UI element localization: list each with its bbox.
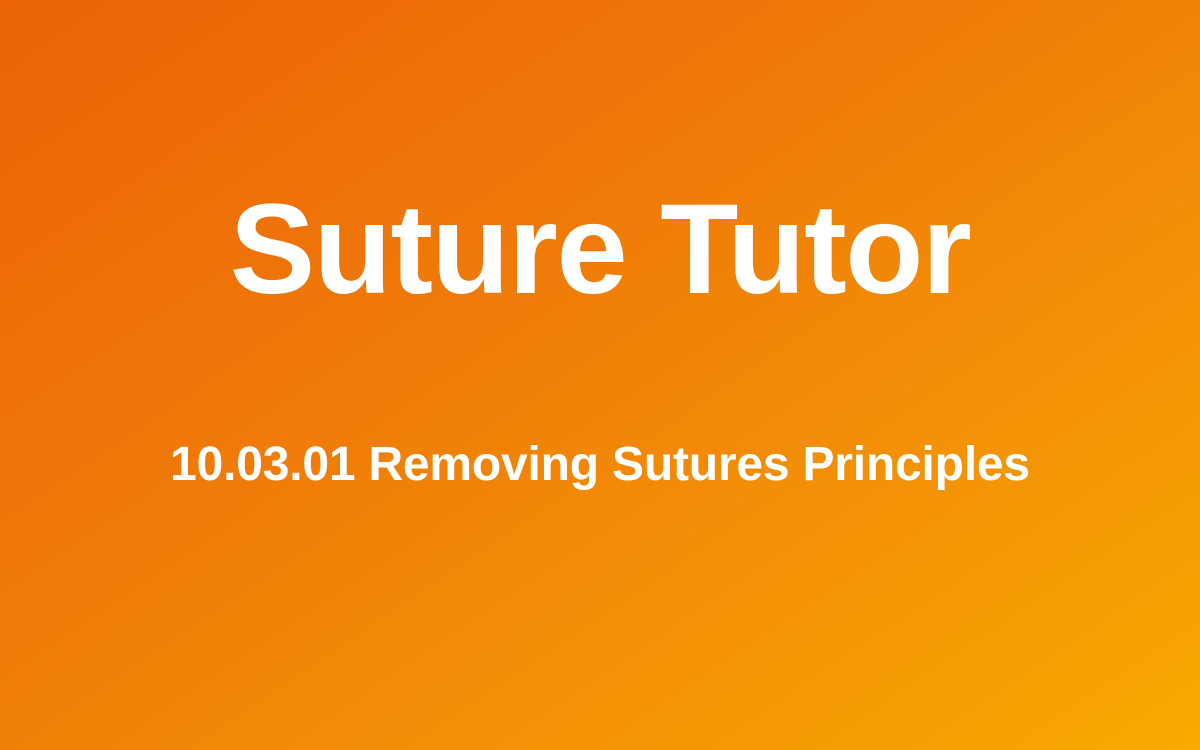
page-title: Suture Tutor [0, 186, 1200, 314]
title-block: Suture Tutor [0, 186, 1200, 314]
title-slide: Suture Tutor 10.03.01 Removing Sutures P… [0, 0, 1200, 750]
subtitle-block: 10.03.01 Removing Sutures Principles [0, 437, 1200, 492]
page-subtitle: 10.03.01 Removing Sutures Principles [0, 437, 1200, 492]
